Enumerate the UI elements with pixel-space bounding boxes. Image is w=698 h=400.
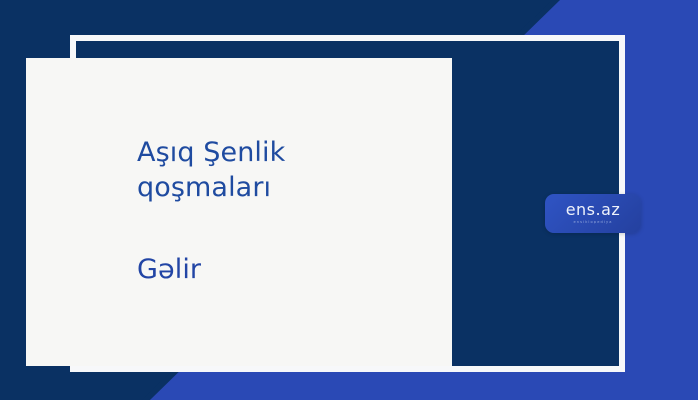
content-card: Aşıq Şenlik qoşmaları Gəlir xyxy=(26,58,452,366)
slide-canvas: Aşıq Şenlik qoşmaları Gəlir ens.az ensik… xyxy=(0,0,698,400)
brand-logo-badge[interactable]: ens.az ensiklopediya xyxy=(545,194,641,233)
brand-name-label: ens.az xyxy=(566,202,621,218)
page-subtitle: Gəlir xyxy=(137,253,438,288)
page-title: Aşıq Şenlik qoşmaları xyxy=(137,136,438,205)
brand-tagline-label: ensiklopediya xyxy=(573,221,612,225)
content-card-text-block: Aşıq Şenlik qoşmaları Gəlir xyxy=(137,58,452,366)
